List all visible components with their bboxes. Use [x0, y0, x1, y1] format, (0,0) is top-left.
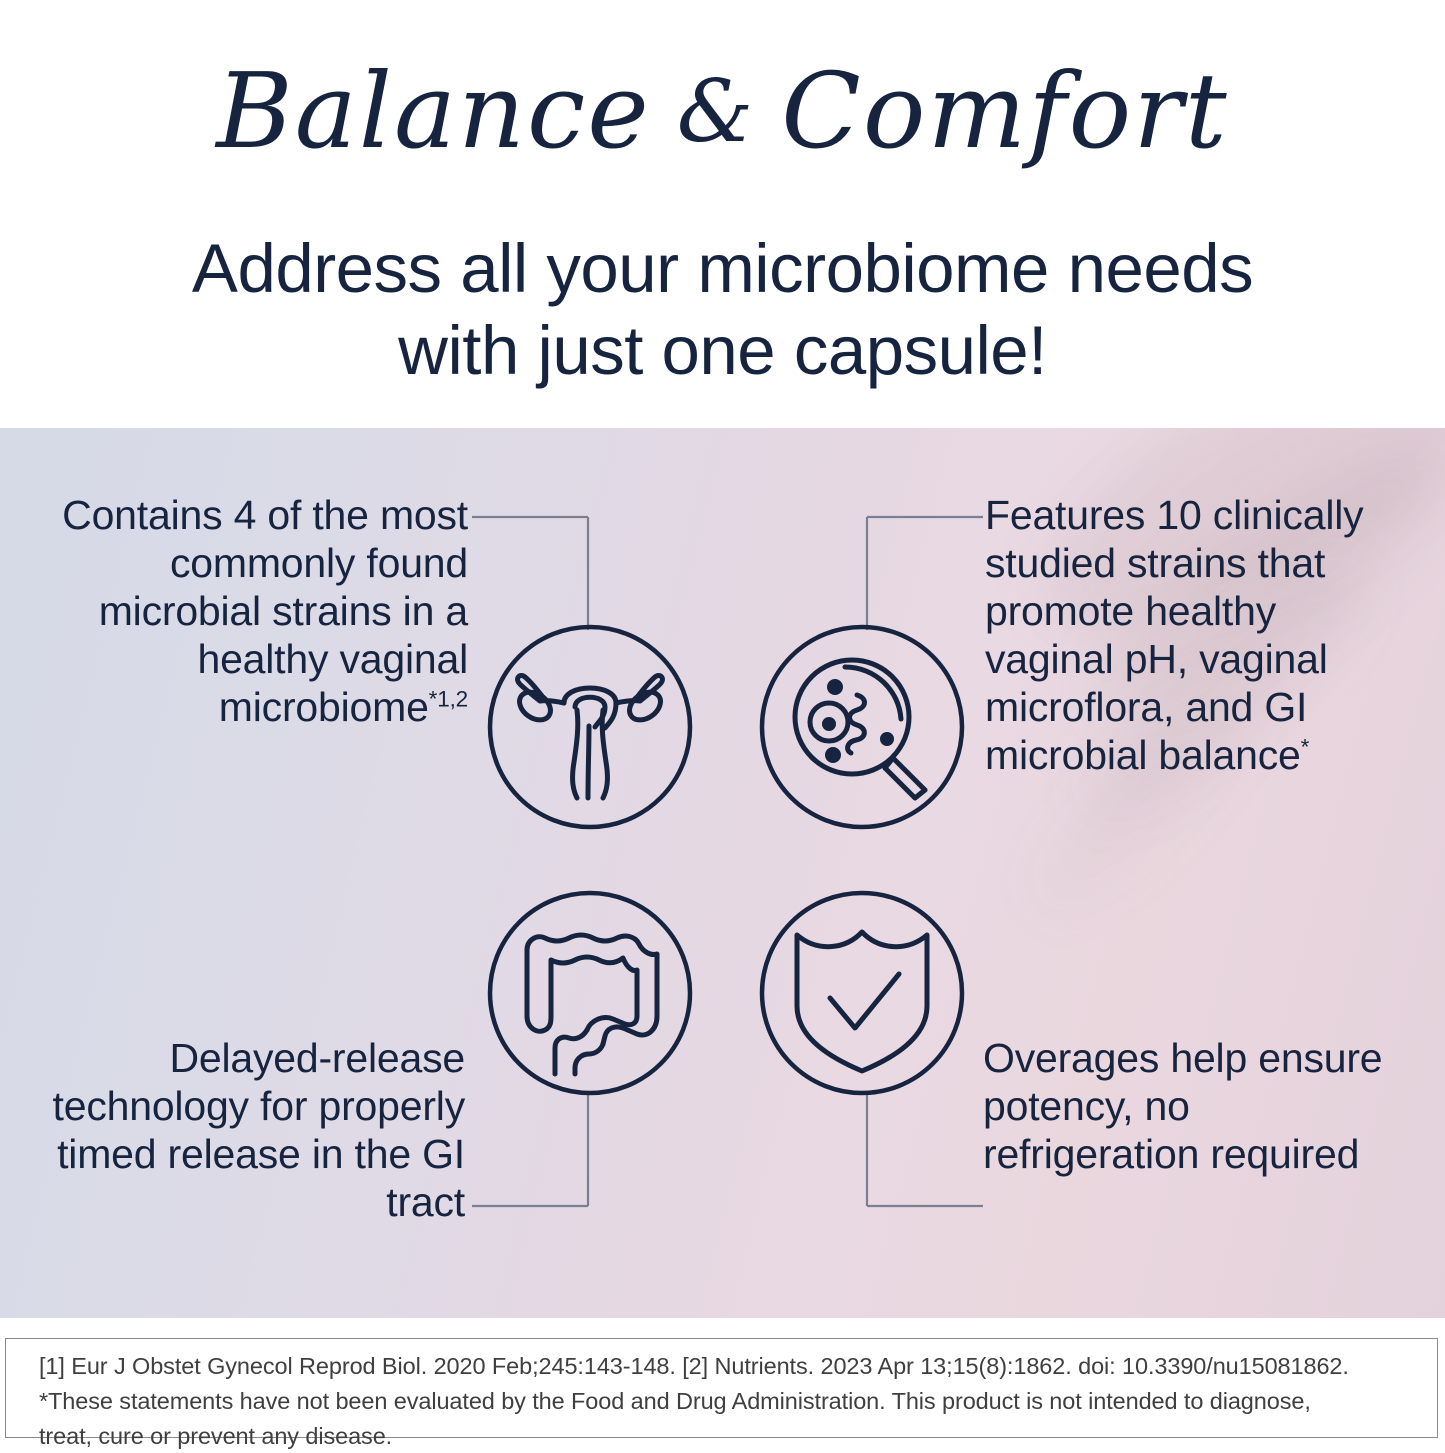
script-title: Balance&Comfort [0, 46, 1445, 176]
script-title-word-2: Comfort [781, 50, 1228, 172]
footnote-line-2: *These statements have not been evaluate… [39, 1384, 1409, 1419]
feature-text-top-left: Contains 4 of the most commonly found mi… [18, 492, 468, 732]
feature-text-bottom-left: Delayed-release technology for properly … [20, 1035, 465, 1227]
headline-line-2: with just one capsule! [70, 310, 1375, 392]
feature-text-superscript: * [1301, 734, 1310, 759]
feature-text-body: Contains 4 of the most commonly found mi… [62, 492, 468, 730]
footnote-line-1: [1] Eur J Obstet Gynecol Reprod Biol. 20… [39, 1349, 1409, 1384]
shield-check-icon [757, 888, 967, 1098]
feature-text-top-right: Features 10 clinically studied strains t… [985, 492, 1415, 780]
feature-text-bottom-right: Overages help ensure potency, no refrige… [983, 1035, 1403, 1179]
headline-line-1: Address all your microbiome needs [70, 228, 1375, 310]
footnote-text: [1] Eur J Obstet Gynecol Reprod Biol. 20… [39, 1349, 1409, 1453]
microscope-magnifier-icon [757, 622, 967, 832]
footnote-line-3: treat, cure or prevent any disease. [39, 1419, 1409, 1453]
feature-text-superscript: *1,2 [429, 686, 468, 711]
intestine-icon [485, 888, 695, 1098]
script-title-word-1: Balance [216, 50, 650, 172]
feature-text-body: Delayed-release technology for properly … [53, 1035, 465, 1225]
header-section: Balance&Comfort Address all your microbi… [0, 0, 1445, 428]
footnote-box: [1] Eur J Obstet Gynecol Reprod Biol. 20… [5, 1338, 1438, 1438]
script-title-ampersand: & [651, 62, 782, 162]
page-headline: Address all your microbiome needs with j… [70, 228, 1375, 392]
uterus-icon [485, 622, 695, 832]
feature-text-body: Overages help ensure potency, no refrige… [983, 1035, 1382, 1177]
